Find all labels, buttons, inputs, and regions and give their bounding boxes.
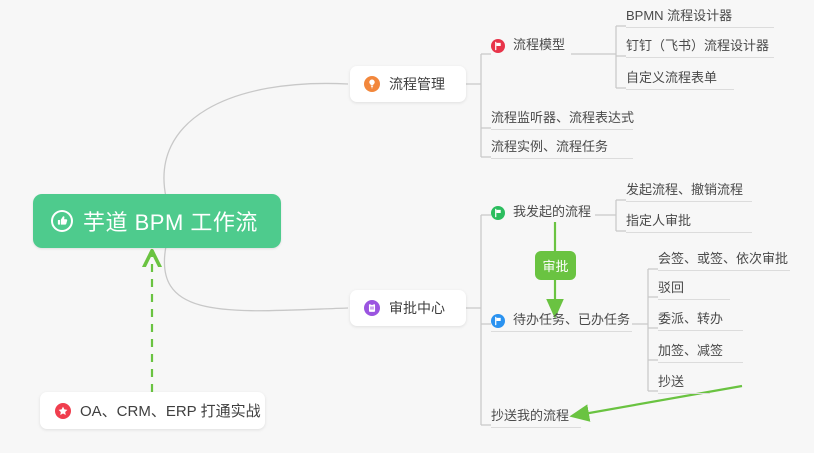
approval-badge-label: 审批 [542,256,568,275]
leaf-label: 指定人审批 [626,210,691,229]
leaf-label: 抄送 [658,371,684,390]
mindmap-canvas: 芋道 BPM 工作流 流程管理 流程模型 BPMN 流程设计器 钉钉（飞书）流程 [0,0,814,453]
leaf-custom-form[interactable]: 自定义流程表单 [626,70,734,90]
leaf-label: 驳回 [658,277,684,296]
lightbulb-icon [364,76,380,92]
flag-icon [491,314,505,328]
root-node[interactable]: 芋道 BPM 工作流 [33,194,281,248]
leaf-bpmn-designer[interactable]: BPMN 流程设计器 [626,8,774,28]
node-label: 待办任务、已办任务 [513,309,630,328]
flag-icon [491,39,505,53]
approval-badge: 审批 [535,251,576,280]
leaf-dingtalk-designer[interactable]: 钉钉（飞书）流程设计器 [626,38,774,58]
node-label: 流程模型 [513,34,565,53]
leaf-label: 抄送我的流程 [491,405,569,424]
root-label: 芋道 BPM 工作流 [83,205,258,237]
leaf-label: 流程监听器、流程表达式 [491,107,634,126]
leaf-reject[interactable]: 驳回 [658,280,730,300]
node-process-model[interactable]: 流程模型 [491,36,565,56]
leaf-label: 委派、转办 [658,308,723,327]
leaf-assignee-approval[interactable]: 指定人审批 [626,213,752,233]
leaf-cc-to-me[interactable]: 抄送我的流程 [491,408,581,428]
branch-node-approval-center[interactable]: 审批中心 [350,290,466,326]
leaf-add-remove-sign[interactable]: 加签、减签 [658,343,743,363]
clipboard-icon [364,300,380,316]
leaf-label: 自定义流程表单 [626,67,717,86]
leaf-countersign[interactable]: 会签、或签、依次审批 [658,251,790,271]
leaf-process-instance[interactable]: 流程实例、流程任务 [491,139,633,159]
leaf-label: 钉钉（飞书）流程设计器 [626,35,769,54]
footnote-label: OA、CRM、ERP 打通实战 [80,400,261,421]
leaf-label: 加签、减签 [658,340,723,359]
leaf-label: 流程实例、流程任务 [491,136,608,155]
node-my-initiated[interactable]: 我发起的流程 [491,203,591,223]
leaf-start-cancel-process[interactable]: 发起流程、撤销流程 [626,182,752,202]
footnote-node[interactable]: OA、CRM、ERP 打通实战 [40,392,265,429]
star-icon [55,403,71,419]
leaf-delegate-transfer[interactable]: 委派、转办 [658,311,743,331]
branch-label: 流程管理 [389,74,445,94]
thumbs-up-icon [51,210,73,232]
node-label: 我发起的流程 [513,201,591,220]
leaf-cc[interactable]: 抄送 [658,374,710,394]
node-todo-done-tasks[interactable]: 待办任务、已办任务 [491,312,632,332]
leaf-label: 发起流程、撤销流程 [626,179,743,198]
branch-label: 审批中心 [389,298,445,318]
branch-node-process-management[interactable]: 流程管理 [350,66,466,102]
leaf-label: BPMN 流程设计器 [626,5,732,24]
flag-icon [491,206,505,220]
leaf-label: 会签、或签、依次审批 [658,248,788,267]
leaf-process-listener[interactable]: 流程监听器、流程表达式 [491,110,633,130]
